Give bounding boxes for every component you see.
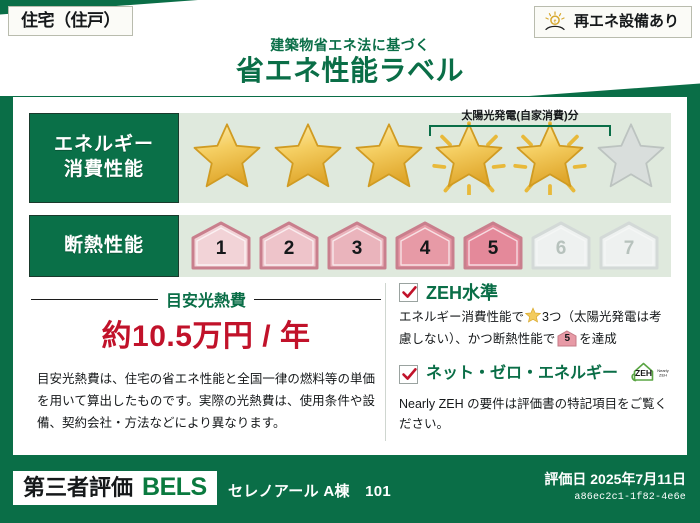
star-rating [179, 113, 671, 203]
insulation-level-track: 1 2 3 4 5 6 [179, 215, 671, 277]
zeh-standard-item: ZEH水準 エネルギー消費性能で3つ（太陽光発電は考慮しない）、かつ断熱性能で5… [399, 283, 671, 350]
star-empty [590, 119, 671, 197]
heading-rule-left [31, 299, 158, 300]
column-divider [385, 283, 386, 441]
inline-house-level-icon: 5 [557, 330, 577, 347]
insulation-label-text: 断熱性能 [64, 234, 144, 259]
zeh-body-post: を達成 [579, 332, 617, 346]
svg-text:ZEH: ZEH [635, 368, 652, 378]
bels-jp-label: 第三者評価 [23, 477, 133, 499]
insulation-house-number: 1 [187, 239, 255, 258]
insulation-house-filled: 4 [391, 220, 459, 272]
insulation-house-number: 5 [459, 239, 527, 258]
insulation-house-number: 4 [391, 239, 459, 258]
label-footer: 第三者評価 BELS セレノアール A棟 101 評価日 2025年7月11日 … [0, 461, 700, 523]
insulation-house-filled: 3 [323, 220, 391, 272]
insulation-house-filled: 1 [187, 220, 255, 272]
energy-label-line1: エネルギー [54, 133, 154, 158]
insulation-house-empty: 6 [527, 220, 595, 272]
renewable-badge-label: 再エネ設備あり [574, 14, 679, 29]
title-main: 省エネ性能ラベル [0, 55, 700, 87]
insulation-house-number: 7 [595, 239, 663, 258]
house-type-tag: 住宅（住戸） [8, 6, 133, 36]
evaluation-date: 評価日 2025年7月11日 [544, 471, 686, 488]
energy-performance-label: エネルギー 消費性能 [29, 113, 179, 203]
svg-text:e: e [554, 19, 557, 25]
utility-cost-note: 目安光熱費は、住宅の省エネ性能と全国一律の燃料等の単価を用いて算出したものです。… [31, 369, 381, 435]
utility-cost-block: 目安光熱費 約10.5万円 / 年 目安光熱費は、住宅の省エネ性能と全国一律の燃… [31, 287, 381, 435]
insulation-performance-row: 断熱性能 1 2 3 4 [29, 215, 671, 277]
sun-renewable-icon: e [543, 11, 567, 32]
insulation-level-scale: 1 2 3 4 5 6 [179, 215, 671, 277]
title-subtitle: 建築物省エネ法に基づく [0, 38, 700, 53]
label-card: エネルギー 消費性能 [13, 97, 687, 455]
insulation-house-number: 2 [255, 239, 323, 258]
zeh-standard-title: ZEH水準 [426, 284, 498, 302]
building-name: セレノアール A棟 101 [228, 480, 391, 501]
heading-rule-right [254, 299, 381, 300]
label-title: 建築物省エネ法に基づく 省エネ性能ラベル [0, 38, 700, 88]
renewable-equipment-badge: e 再エネ設備あり [534, 6, 692, 38]
zeh-body-pre: エネルギー消費性能で [399, 310, 524, 324]
net-zero-energy-body: Nearly ZEH の要件は評価書の特記項目をご覧ください。 [399, 394, 671, 435]
energy-performance-row: エネルギー 消費性能 [29, 113, 671, 203]
star-filled [348, 119, 429, 197]
star-filled [510, 119, 591, 197]
zeh-standard-header: ZEH水準 [399, 283, 671, 302]
net-zero-energy-title: ネット・ゼロ・エネルギー [426, 366, 618, 382]
checkbox-checked-icon [399, 365, 418, 384]
insulation-performance-label: 断熱性能 [29, 215, 179, 277]
insulation-house-filled: 5 [459, 220, 527, 272]
energy-label-line2: 消費性能 [64, 158, 144, 183]
star-filled [268, 119, 349, 197]
evaluation-id: a86ec2c1-1f82-4e6e [544, 491, 686, 505]
inline-house-level-number: 5 [557, 334, 577, 344]
utility-cost-value: 約10.5万円 / 年 [31, 319, 381, 355]
utility-cost-heading-text: 目安光熱費 [166, 287, 246, 311]
svg-text:ZEH: ZEH [659, 372, 667, 377]
zeh-standard-body: エネルギー消費性能で3つ（太陽光発電は考慮しない）、かつ断熱性能で5を達成 [399, 307, 671, 350]
energy-star-track: 太陽光発電(自家消費)分 [179, 113, 671, 203]
net-zero-energy-header: ネット・ゼロ・エネルギー ZEH Nearly ZEH [399, 360, 671, 389]
checkbox-checked-icon [399, 283, 418, 302]
net-zero-energy-item: ネット・ゼロ・エネルギー ZEH Nearly ZEH Nearly ZEH の… [399, 360, 671, 435]
insulation-house-number: 3 [323, 239, 391, 258]
bels-chip: 第三者評価 BELS [13, 471, 217, 505]
utility-cost-heading: 目安光熱費 [31, 287, 381, 311]
house-type-tag-label: 住宅（住戸） [21, 11, 120, 30]
zeh-column: ZEH水準 エネルギー消費性能で3つ（太陽光発電は考慮しない）、かつ断熱性能で5… [399, 283, 671, 444]
inline-star-icon [525, 307, 541, 329]
insulation-house-empty: 7 [595, 220, 663, 272]
star-filled [429, 119, 510, 197]
bels-en-label: BELS [142, 475, 207, 500]
star-filled [187, 119, 268, 197]
evaluation-info: 評価日 2025年7月11日 a86ec2c1-1f82-4e6e [544, 471, 686, 505]
energy-performance-label: 住宅（住戸） e 再エネ設備あり 建築物省エネ法に基づく 省エネ性能ラベル [0, 0, 700, 523]
insulation-house-filled: 2 [255, 220, 323, 272]
insulation-house-number: 6 [527, 239, 595, 258]
zeh-house-logo-icon: ZEH Nearly ZEH [630, 360, 676, 389]
